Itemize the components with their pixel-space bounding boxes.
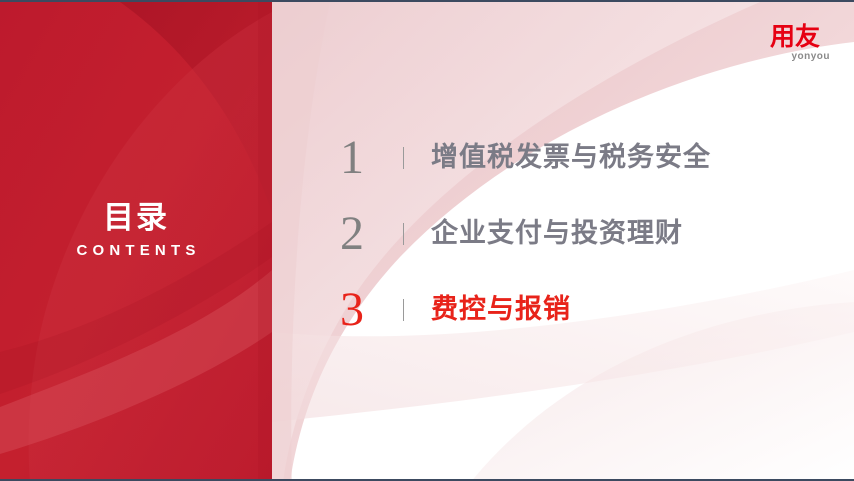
toc-item-2[interactable]: 2 企业支付与投资理财 (340, 196, 820, 272)
toc-list: 1 增值税发票与税务安全 2 企业支付与投资理财 3 费控与报销 (340, 120, 820, 348)
toc-heading: 目录 CONTENTS (0, 198, 272, 261)
toc-divider-icon (403, 223, 404, 245)
page-title: 目录 (0, 198, 272, 238)
toc-item-label: 企业支付与投资理财 (431, 217, 683, 251)
toc-item-1[interactable]: 1 增值税发票与税务安全 (340, 120, 820, 196)
toc-item-number: 3 (340, 284, 380, 336)
toc-divider-icon (403, 299, 404, 321)
slide-canvas: 目录 CONTENTS 用友 yonyou 1 增值税发票与税务安全 2 企业支… (0, 0, 854, 481)
toc-divider-icon (403, 147, 404, 169)
page-subtitle: CONTENTS (0, 241, 272, 261)
toc-item-3[interactable]: 3 费控与报销 (340, 272, 820, 348)
logo-text-cn: 用友 (758, 24, 832, 50)
toc-item-number: 1 (340, 132, 380, 184)
toc-item-label: 费控与报销 (431, 293, 571, 327)
brand-logo: 用友 yonyou (758, 24, 832, 63)
toc-item-label: 增值税发票与税务安全 (431, 141, 711, 175)
logo-text-en: yonyou (758, 51, 832, 63)
toc-item-number: 2 (340, 208, 380, 260)
